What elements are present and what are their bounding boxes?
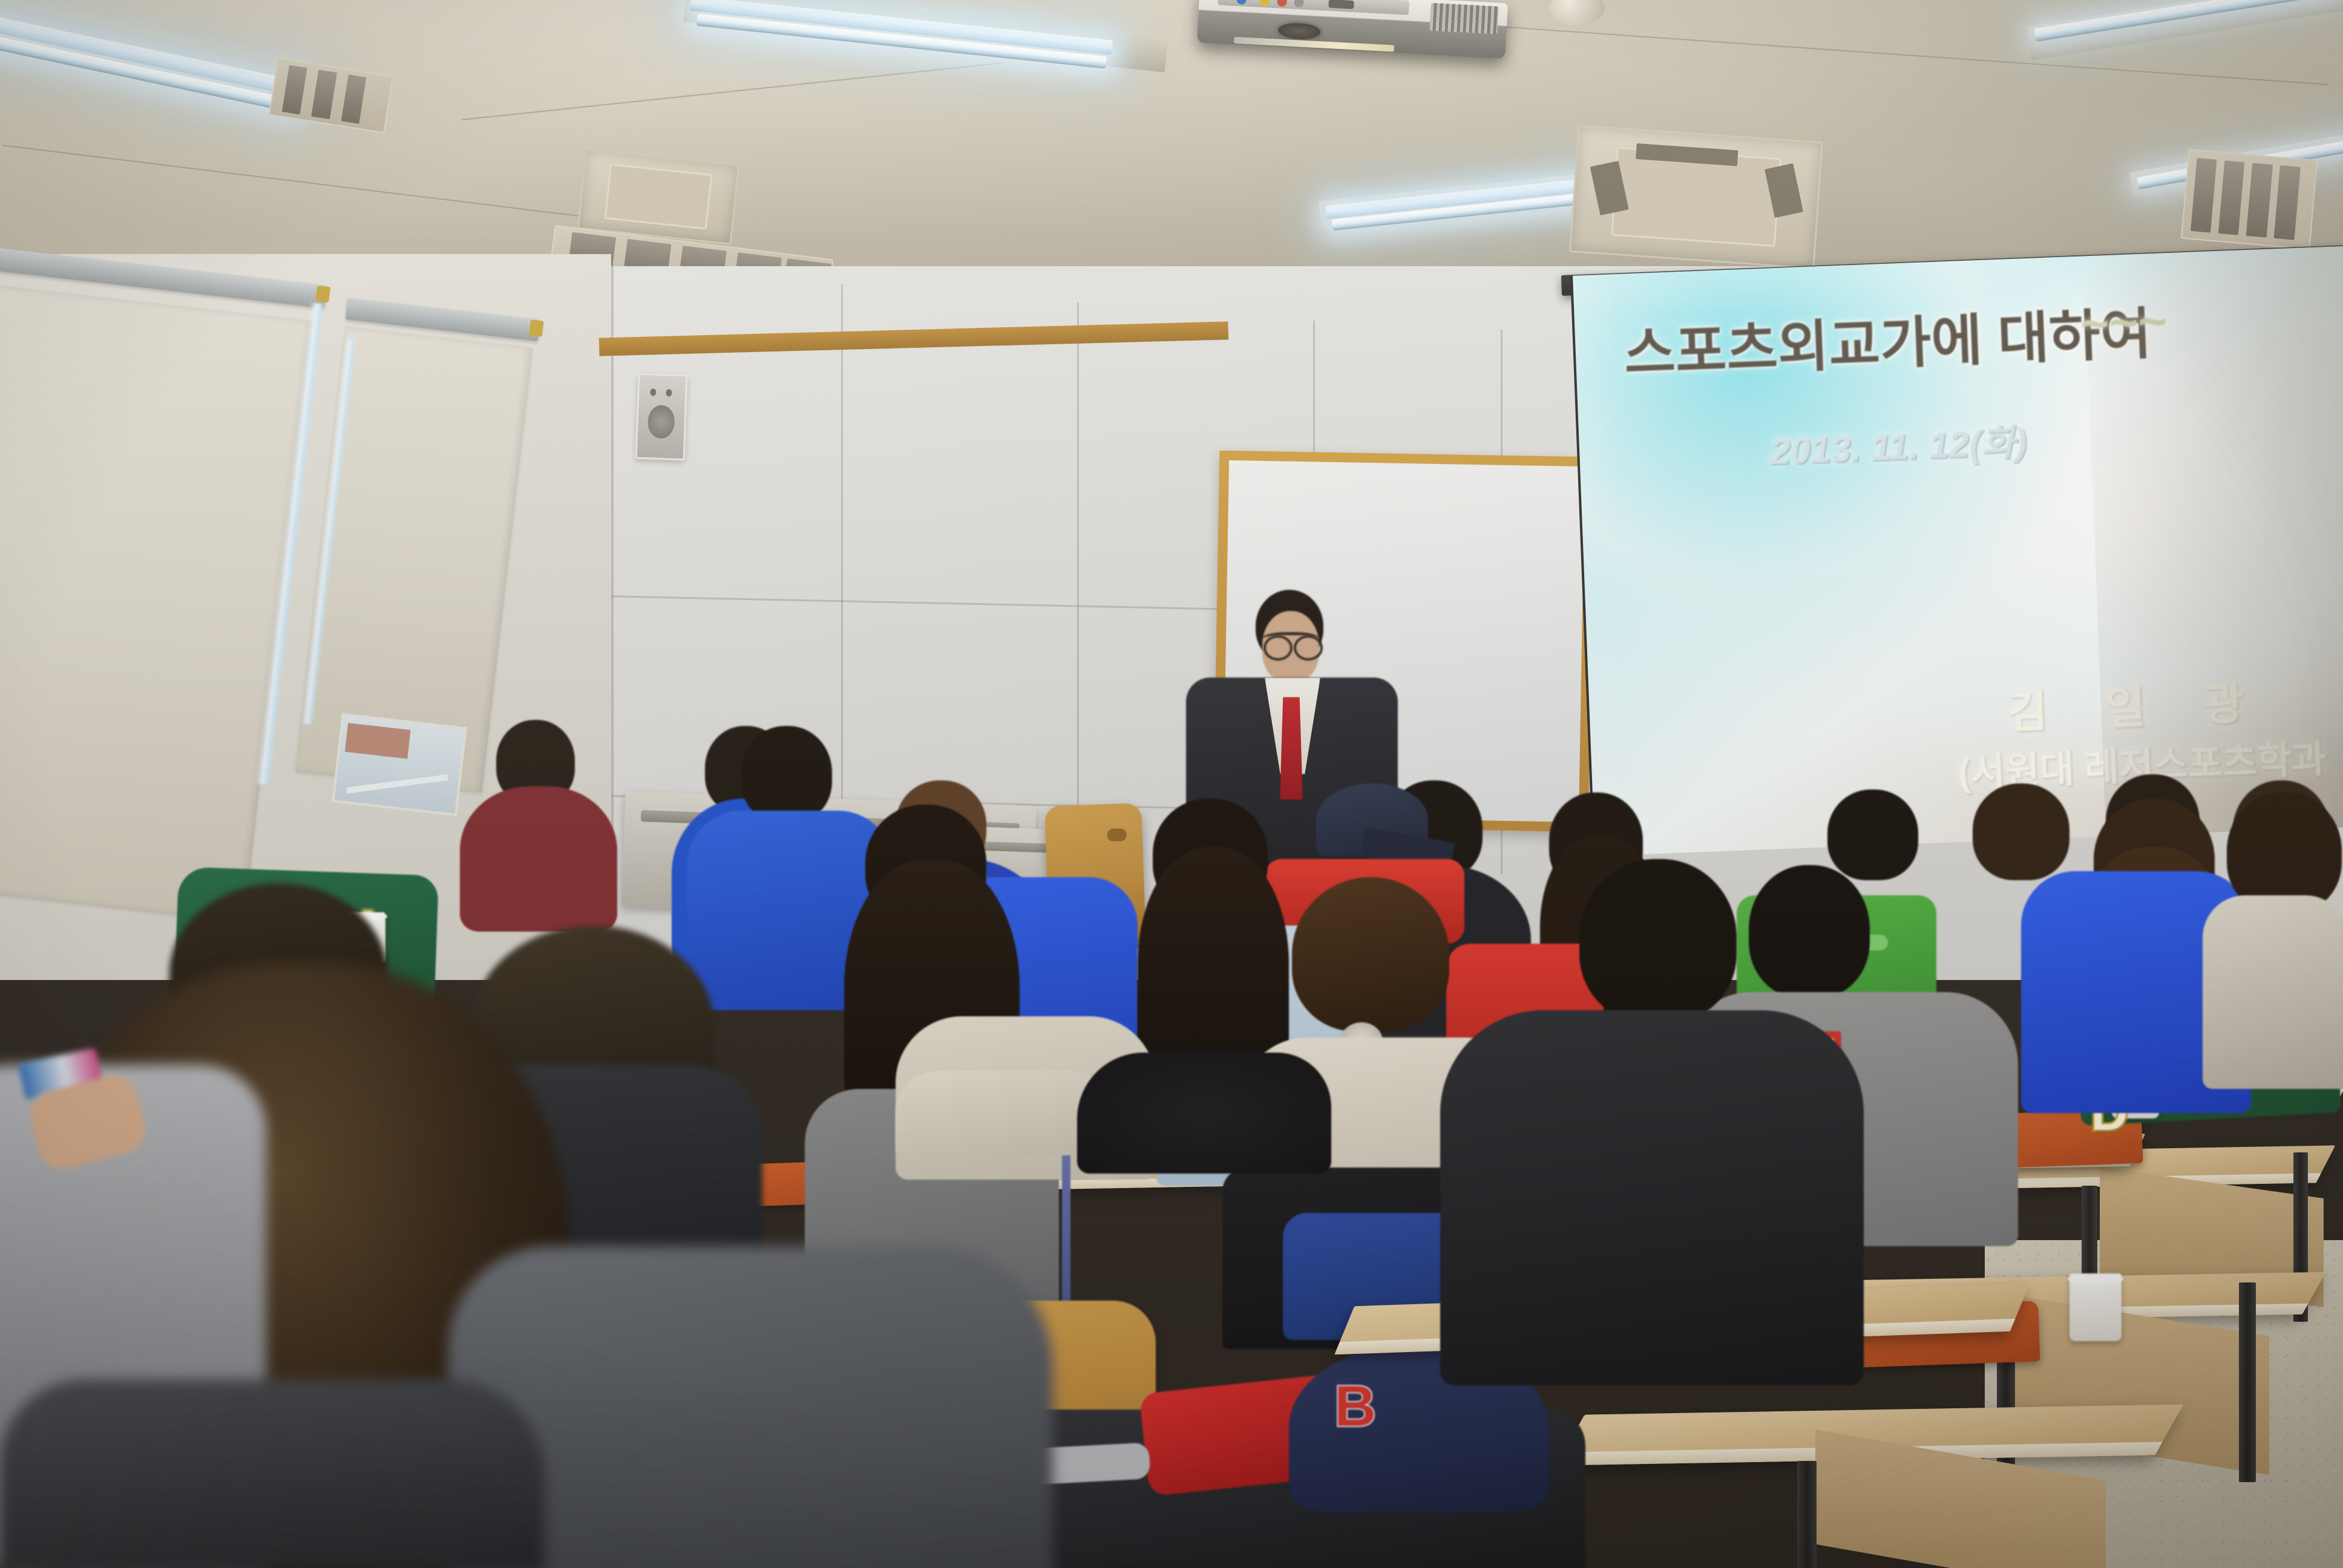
ac-cassette-unit — [1569, 125, 1823, 269]
presenter-glasses-lens-right — [1294, 635, 1323, 661]
audience-head — [1579, 859, 1737, 1022]
audience-head — [1973, 783, 2069, 880]
projection-screen: 스포츠외교가에 대하여 ~~~ 2013. 11. 12(화) 김 일 광 (서… — [1570, 246, 2343, 857]
cap-logo-text: B — [1334, 1373, 1376, 1440]
audience-body — [460, 786, 617, 932]
audience-head — [1749, 865, 1870, 998]
slide-title: 스포츠외교가에 대하여 — [1622, 289, 2152, 389]
foreground-shoulder — [0, 1379, 545, 1568]
audience-head — [741, 726, 832, 823]
desk-leg — [1797, 1461, 1817, 1568]
slide-title-tilde: ~~~ — [2079, 293, 2168, 353]
wall-speaker — [635, 373, 688, 461]
slide-date: 2013. 11. 12(화) — [1769, 413, 2028, 475]
audience-head — [1292, 877, 1449, 1031]
classroom-photo: 스포츠외교가에 대하여 ~~~ 2013. 11. 12(화) 김 일 광 (서… — [0, 0, 2343, 1568]
ceiling — [0, 0, 2343, 284]
air-vent — [2181, 149, 2318, 250]
presenter-tie — [1280, 697, 1303, 800]
presenter-glasses-lens-left — [1263, 635, 1293, 661]
window-pane — [332, 713, 467, 817]
fur-collar — [1077, 1053, 1331, 1174]
paper-cup[interactable] — [2069, 1273, 2122, 1341]
projector-lens — [1277, 22, 1320, 41]
audience-head — [1827, 789, 1918, 880]
black-puffer-jacket — [1440, 1010, 1864, 1385]
light-jacket — [2203, 895, 2343, 1089]
slide-presenter-name: 김 일 광 — [2006, 667, 2267, 740]
desk-leg — [2239, 1282, 2256, 1482]
